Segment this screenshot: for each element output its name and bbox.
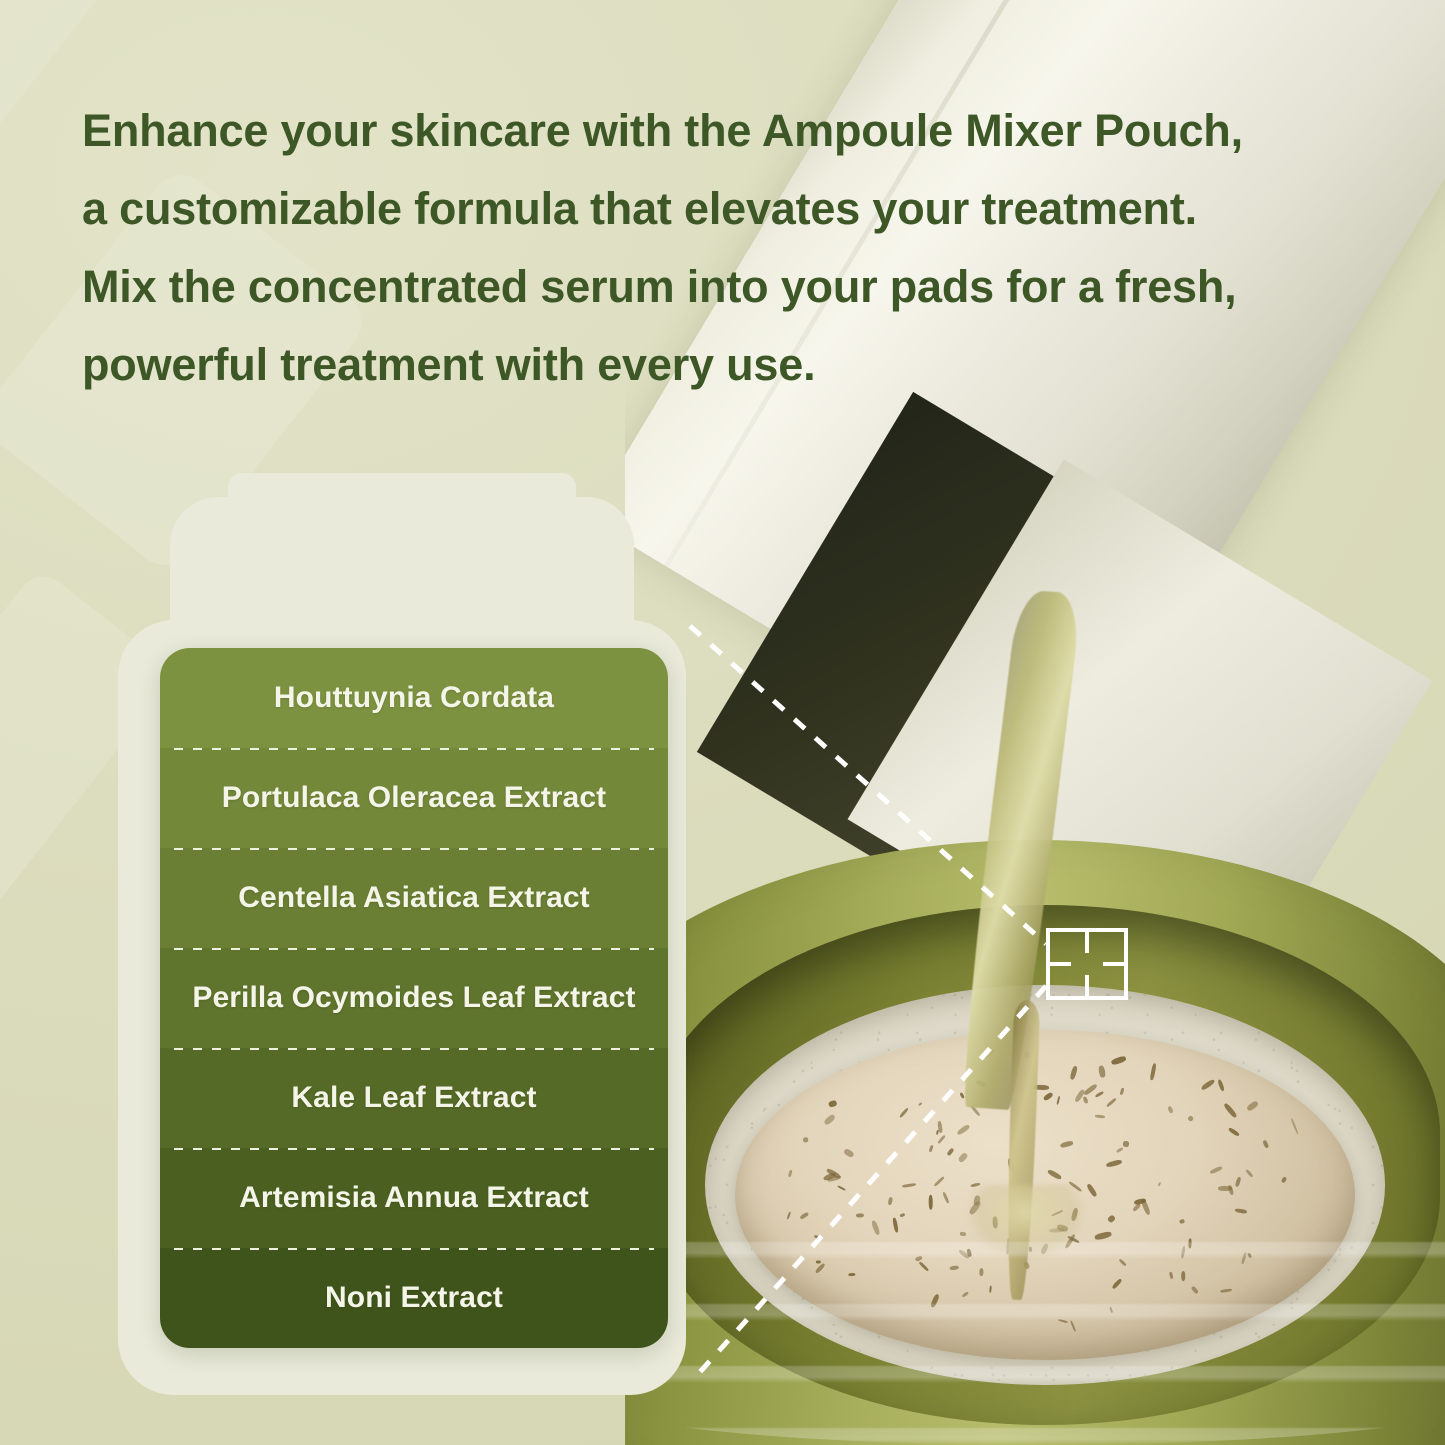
ingredient-row: Artemisia Annua Extract [160, 1148, 668, 1248]
herb-fleck [918, 1102, 923, 1106]
herb-fleck [956, 1123, 971, 1136]
herb-fleck [1187, 1115, 1194, 1122]
herb-fleck [1046, 1169, 1061, 1181]
ingredient-list: Houttuynia CordataPortulaca Oleracea Ext… [160, 648, 668, 1348]
herb-fleck [958, 1152, 969, 1163]
herb-fleck [1111, 1056, 1127, 1066]
herb-fleck [1116, 1147, 1124, 1153]
herb-fleck [1281, 1176, 1288, 1183]
ingredient-label: Kale Leaf Extract [291, 1081, 536, 1115]
herb-fleck [1099, 1065, 1107, 1078]
herb-fleck [1150, 1064, 1157, 1081]
promo-canvas: Houttuynia CordataPortulaca Oleracea Ext… [0, 0, 1445, 1445]
herb-fleck [1291, 1118, 1299, 1135]
herb-fleck [1235, 1208, 1247, 1214]
herb-fleck [1247, 1100, 1260, 1112]
ingredient-row: Houttuynia Cordata [160, 648, 668, 748]
ingredient-row: Perilla Ocymoides Leaf Extract [160, 948, 668, 1048]
ingredient-label: Noni Extract [325, 1281, 503, 1315]
herb-fleck [1094, 1091, 1103, 1098]
jar-ridges [625, 1215, 1445, 1445]
herb-fleck [942, 1192, 949, 1204]
herb-fleck [1105, 1097, 1116, 1108]
herb-fleck [1235, 1176, 1242, 1187]
focus-tick-left [1049, 962, 1071, 966]
focus-tick-right [1103, 962, 1125, 966]
herb-fleck [828, 1100, 837, 1108]
herb-fleck [929, 1145, 934, 1152]
ingredient-label: Perilla Ocymoides Leaf Extract [192, 981, 635, 1015]
focus-tick-top [1085, 931, 1089, 953]
headline-line-2: a customizable formula that elevates you… [82, 170, 1392, 248]
herb-fleck [856, 1212, 864, 1217]
herb-fleck [1228, 1127, 1240, 1137]
herb-fleck [1210, 1166, 1223, 1175]
herb-fleck [1069, 1066, 1078, 1080]
herb-fleck [788, 1170, 793, 1177]
herb-fleck [934, 1176, 945, 1187]
herb-fleck [1042, 1092, 1053, 1102]
ingredient-row: Kale Leaf Extract [160, 1048, 668, 1148]
headline-line-1: Enhance your skincare with the Ampoule M… [82, 92, 1392, 170]
herb-fleck [1106, 1159, 1123, 1168]
herb-fleck [837, 1185, 846, 1191]
herb-fleck [1157, 1182, 1161, 1187]
herb-fleck [1059, 1140, 1073, 1148]
herb-fleck [1200, 1078, 1216, 1091]
ingredient-label: Artemisia Annua Extract [239, 1181, 589, 1215]
herb-fleck [799, 1212, 808, 1220]
herb-fleck [1228, 1185, 1234, 1195]
herb-fleck [786, 1211, 791, 1219]
herb-fleck [947, 1148, 954, 1156]
herb-fleck [1095, 1114, 1105, 1118]
herb-fleck [887, 1197, 893, 1206]
herb-fleck [928, 1195, 933, 1210]
ingredient-label: Portulaca Oleracea Extract [222, 781, 606, 815]
ingredient-label: Houttuynia Cordata [274, 681, 554, 715]
headline-line-4: powerful treatment with every use. [82, 326, 1392, 404]
focus-frame-icon [1046, 928, 1128, 1000]
headline-line-3: Mix the concentrated serum into your pad… [82, 248, 1392, 326]
herb-fleck [1082, 1096, 1088, 1104]
herb-fleck [1132, 1204, 1141, 1213]
focus-tick-bottom [1085, 975, 1089, 997]
herb-fleck [1167, 1106, 1173, 1114]
herb-fleck [902, 1183, 916, 1188]
herb-fleck [898, 1107, 908, 1118]
herb-fleck [938, 1135, 946, 1144]
ingredient-label: Centella Asiatica Extract [238, 881, 590, 915]
herb-fleck [1120, 1088, 1124, 1095]
herb-fleck [1216, 1079, 1224, 1091]
herb-fleck [1223, 1103, 1237, 1119]
headline-block: Enhance your skincare with the Ampoule M… [82, 92, 1392, 404]
herb-fleck [802, 1136, 808, 1142]
ingredient-row: Noni Extract [160, 1248, 668, 1348]
herb-fleck [1122, 1141, 1129, 1148]
herb-fleck [843, 1148, 854, 1158]
herb-fleck [1056, 1095, 1060, 1104]
herb-fleck [1246, 1169, 1254, 1178]
herb-fleck [824, 1114, 836, 1126]
herb-fleck [1262, 1140, 1269, 1148]
ingredient-row: Portulaca Oleracea Extract [160, 748, 668, 848]
ingredient-row: Centella Asiatica Extract [160, 848, 668, 948]
